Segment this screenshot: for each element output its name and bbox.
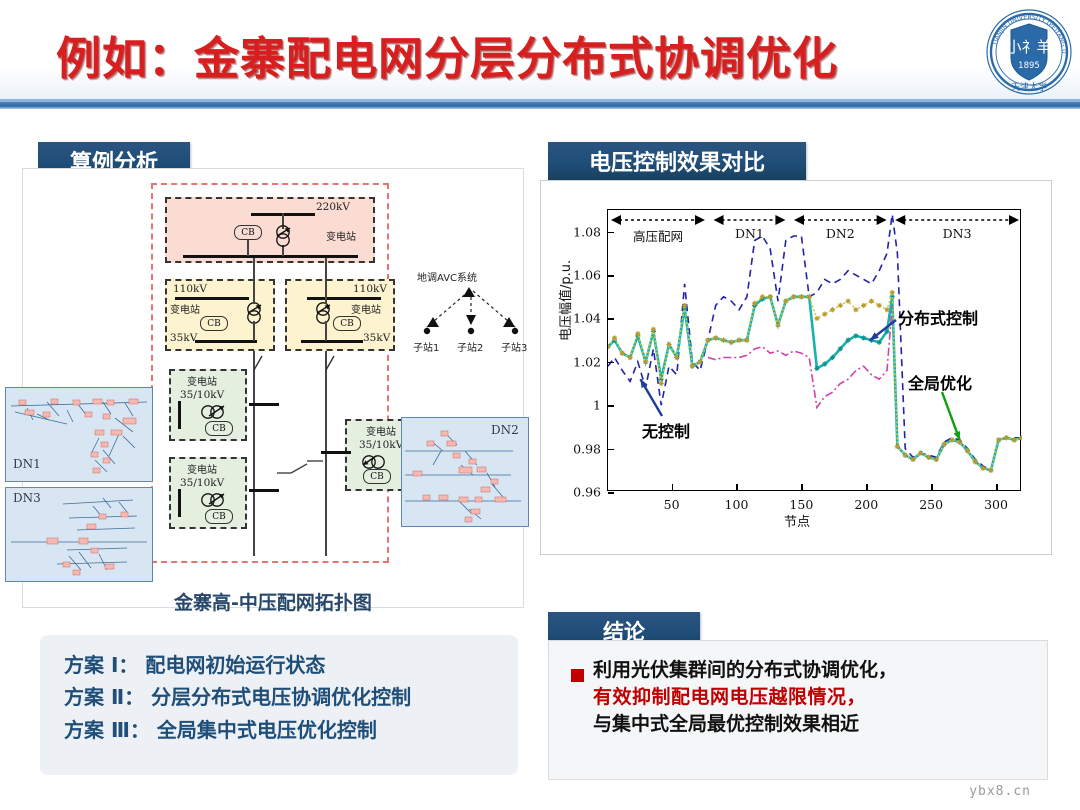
transformer-110kv-right-icon	[311, 302, 335, 324]
watermark: ybx8.cn	[969, 784, 1031, 799]
chart-plot-area: 0.960.9811.021.041.061.08501001502002503…	[607, 209, 1021, 491]
bus-110kv-upper	[183, 255, 358, 258]
bus-110kv-left	[175, 297, 249, 300]
cb-110kv-left: CB	[200, 316, 228, 331]
chart-x-tick: 150	[789, 497, 813, 512]
chart-series-marker	[838, 303, 843, 308]
chart-y-tick-mark	[608, 362, 614, 364]
chart-series-marker	[949, 437, 954, 442]
label-sub2-station: 变电站	[187, 461, 217, 476]
label-35kv-right: 35kV	[363, 332, 390, 344]
chart-series-marker	[853, 307, 858, 312]
label-sub2-ratio: 35/10kV	[180, 477, 224, 489]
chart-annotation-3: 全局优化	[908, 370, 972, 394]
cb-sub2: CB	[205, 509, 233, 524]
avc-substation-3: 子站3	[501, 339, 527, 354]
chart-series-marker	[918, 450, 923, 455]
chart-series-marker	[877, 303, 882, 308]
chart-y-axis-label: 电压幅值/p.u.	[555, 260, 574, 341]
chart-y-tick-mark	[608, 318, 614, 320]
cb-sub3: CB	[363, 469, 391, 484]
chart-x-tick-mark	[931, 484, 933, 490]
chart-x-tick-mark	[866, 484, 868, 490]
chart-series-marker	[830, 307, 835, 312]
tianjin-university-logo-icon: 小礻羊 1895 天津大学 TIANJIN UNIVERSITY (PEIYAN…	[985, 8, 1073, 96]
chart-series-marker	[768, 294, 773, 299]
chart-series-marker	[884, 307, 889, 312]
chart-series-marker	[890, 290, 895, 295]
feeder-left-main	[253, 351, 255, 556]
chart-series-marker	[643, 359, 648, 364]
zone-span-arrow-svg	[608, 212, 1022, 246]
chart-x-tick-mark	[801, 484, 803, 490]
chart-series-marker	[830, 355, 835, 360]
cb-220kv: CB	[234, 225, 262, 240]
chart-y-tick: 1	[593, 398, 601, 413]
chart-series-marker	[845, 299, 850, 304]
cb-110kv-right: CB	[333, 316, 361, 331]
svg-text:天津大学: 天津大学	[1011, 81, 1047, 93]
conclusion-line-2: 有效抑制配电网电压越限情况，	[593, 684, 1033, 711]
chart-x-tick-mark	[996, 484, 998, 490]
chart-series-marker	[674, 355, 679, 360]
label-35kv-left: 35kV	[170, 332, 197, 344]
chart-series-marker	[822, 361, 827, 366]
chart-x-tick-mark	[736, 484, 738, 490]
chart-series-marker	[807, 294, 812, 299]
chart-annotation-1: 无控制	[642, 418, 690, 442]
chart-y-tick: 1.02	[573, 354, 601, 369]
chart-series-marker	[988, 468, 993, 473]
chart-series-marker	[635, 331, 640, 336]
chart-series-marker	[877, 340, 882, 345]
chart-series-marker	[822, 312, 827, 317]
label-110kv-left-station: 变电站	[170, 301, 200, 316]
scheme-1-id: 方案 Ⅰ：	[64, 653, 138, 677]
scheme-1-text: 配电网初始运行状态	[145, 653, 325, 677]
scheme-2-text: 分层分布式电压协调优化控制	[151, 685, 411, 709]
chart-y-tick-mark	[608, 492, 614, 494]
scheme-2-id: 方案 Ⅱ：	[64, 685, 144, 709]
chart-y-tick-mark	[608, 275, 614, 277]
topology-caption: 金寨高-中压配网拓扑图	[22, 588, 524, 615]
chart-series-marker	[996, 437, 1001, 442]
title-underline-accent	[0, 102, 1080, 109]
label-220kv: 220kV	[316, 201, 350, 213]
label-sub1-ratio: 35/10kV	[180, 389, 224, 401]
bus-sub1-tie	[249, 403, 279, 406]
disconnector-left-icon	[247, 355, 265, 371]
chart-series-marker	[814, 316, 819, 321]
wire-110-left-to-35	[253, 321, 255, 341]
chart-series-marker	[627, 355, 632, 360]
chart-y-tick-mark	[608, 405, 614, 407]
label-sub3-station: 变电站	[366, 423, 396, 438]
chart-series-marker	[713, 335, 718, 340]
chart-x-tick: 300	[984, 497, 1008, 512]
scheme-row-1: 方案 Ⅰ： 配电网初始运行状态	[64, 649, 518, 681]
chart-series-marker	[698, 359, 703, 364]
transformer-sub2-icon	[199, 490, 229, 510]
transformer-220kv-icon	[271, 225, 295, 247]
wire-110-right-up	[325, 258, 327, 304]
label-110kv-right: 110kV	[353, 283, 387, 295]
svg-text:小礻羊: 小礻羊	[1006, 38, 1051, 56]
section-header-voltage-comparison: 电压控制效果对比	[548, 142, 806, 180]
chart-series-marker	[845, 338, 850, 343]
dn3-feeder-graphic	[7, 490, 151, 580]
chart-series-marker	[744, 338, 749, 343]
label-sub1-station: 变电站	[187, 373, 217, 388]
chart-series-marker	[651, 327, 656, 332]
chart-series-marker	[1012, 437, 1017, 442]
bus-sub2	[178, 489, 181, 517]
page-title: 例如：金寨配电网分层分布式协调优化	[56, 22, 838, 87]
conclusion-line-3: 与集中式全局最优控制效果相近	[593, 711, 1033, 738]
bus-35kv-right	[301, 340, 363, 343]
wire-110-right-to-35	[325, 321, 327, 341]
chart-y-tick-mark	[608, 449, 614, 451]
wire-110-left-down	[253, 258, 255, 304]
chart-x-tick: 100	[725, 497, 749, 512]
avc-substation-1: 子站1	[413, 339, 439, 354]
chart-series-marker	[814, 366, 819, 371]
chart-series-marker	[910, 457, 915, 462]
chart-series-marker	[838, 346, 843, 351]
chart-x-tick: 50	[664, 497, 680, 512]
chart-y-tick: 0.98	[573, 441, 601, 456]
chart-y-tick: 1.06	[573, 268, 601, 283]
chart-series-marker	[869, 338, 874, 343]
tie-switch-icon	[277, 455, 327, 477]
chart-x-axis-label: 节点	[541, 511, 1053, 530]
chart-series-marker	[1004, 435, 1009, 440]
chart-series-marker	[791, 294, 796, 299]
scheme-row-2: 方案 Ⅱ： 分层分布式电压协调优化控制	[64, 681, 518, 713]
chart-series-canvas	[608, 210, 1022, 492]
conclusion-bullet-icon	[571, 669, 584, 682]
chart-series-marker	[729, 340, 734, 345]
disconnector-right-icon	[319, 355, 337, 371]
chart-y-tick: 0.96	[573, 485, 601, 500]
label-sub3-ratio: 35/10kV	[359, 439, 403, 451]
chart-series-marker	[659, 381, 664, 386]
wire-cb-220-down	[247, 240, 249, 256]
conclusion-panel: 利用光伏集群间的分布式协调优化， 有效抑制配电网电压越限情况， 与集中式全局最优…	[548, 640, 1048, 780]
chart-annotation-2: 分布式控制	[898, 305, 978, 329]
chart-series-marker	[775, 322, 780, 327]
svg-text:1895: 1895	[1018, 61, 1040, 71]
label-110kv-right-station: 变电站	[351, 301, 381, 316]
chart-series-marker	[666, 342, 671, 347]
bus-110kv-right	[307, 297, 381, 300]
bus-35kv-left	[195, 340, 257, 343]
chart-x-tick-mark	[672, 484, 674, 490]
chart-series-line	[708, 305, 892, 407]
bus-sub1	[178, 401, 181, 429]
voltage-chart-panel: 电压幅值/p.u. 节点 0.960.9811.021.041.061.0850…	[540, 180, 1052, 555]
scheme-3-id: 方案 Ⅲ：	[64, 718, 150, 742]
avc-substation-2: 子站2	[457, 339, 483, 354]
chart-x-tick: 200	[854, 497, 878, 512]
topology-diagram-panel: 220kV 变电站 CB 110kV 变电站 35kV CB 110kV 变电站…	[22, 168, 524, 608]
scheme-3-text: 全局集中式电压优化控制	[157, 718, 377, 742]
chart-series-marker	[682, 303, 687, 308]
conclusion-line-1: 利用光伏集群间的分布式协调优化，	[593, 657, 1033, 684]
dn2-feeder-graphic	[403, 421, 527, 525]
chart-x-tick: 250	[919, 497, 943, 512]
dn1-feeder-graphic	[7, 390, 151, 480]
cb-sub1: CB	[205, 421, 233, 436]
scheme-row-3: 方案 Ⅲ： 全局集中式电压优化控制	[64, 714, 518, 746]
chart-series-marker	[965, 448, 970, 453]
chart-series-marker	[980, 466, 985, 471]
avc-arrows-icon	[411, 281, 531, 343]
bus-sub2-tie	[249, 489, 279, 492]
page-header: 例如：金寨配电网分层分布式协调优化 小礻羊 1895 天津大学 TIANJIN …	[0, 0, 1080, 108]
chart-series-marker	[799, 294, 804, 299]
chart-series-marker	[760, 294, 765, 299]
label-110kv-left: 110kV	[173, 283, 207, 295]
chart-series-marker	[612, 335, 617, 340]
transformer-sub1-icon	[199, 402, 229, 422]
schemes-list: 方案 Ⅰ： 配电网初始运行状态 方案 Ⅱ： 分层分布式电压协调优化控制 方案 Ⅲ…	[40, 635, 518, 775]
label-220kv-station: 变电站	[326, 228, 356, 243]
chart-y-tick: 1.08	[573, 224, 601, 239]
bus-sub3-tie	[321, 451, 351, 454]
chart-series-marker	[895, 444, 900, 449]
chart-y-tick: 1.04	[573, 311, 601, 326]
